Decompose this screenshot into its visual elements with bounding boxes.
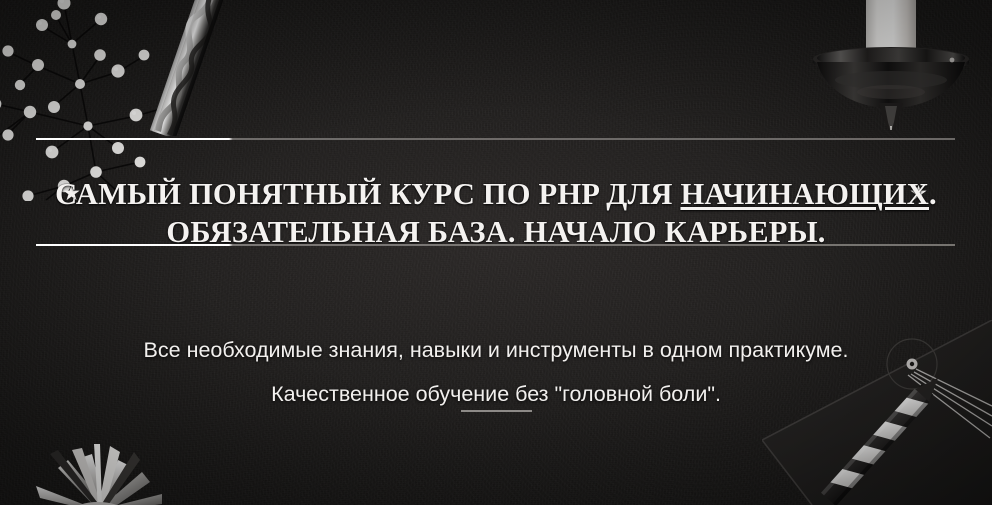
hero-banner: ★ ★ САМЫЙ ПОНЯТНЫЙ КУРС ПО PHP ДЛЯ НАЧИН… [0,0,992,505]
divider-bottom [36,244,955,246]
headline-line-1-prefix: САМЫЙ ПОНЯТНЫЙ КУРС ПО PHP ДЛЯ [55,177,680,211]
hero-content: ★ ★ САМЫЙ ПОНЯТНЫЙ КУРС ПО PHP ДЛЯ НАЧИН… [0,0,992,505]
divider-top [36,138,955,140]
divider-short [461,410,532,412]
hero-subtitle: Все необходимые знания, навыки и инструм… [0,328,992,416]
headline-highlight-word: НАЧИНАЮЩИХ [680,177,929,211]
subtitle-line-1: Все необходимые знания, навыки и инструм… [144,338,849,362]
headline-line-1-suffix: . [929,177,937,211]
hero-headline: САМЫЙ ПОНЯТНЫЙ КУРС ПО PHP ДЛЯ НАЧИНАЮЩИ… [0,175,992,251]
headline-line-1: САМЫЙ ПОНЯТНЫЙ КУРС ПО PHP ДЛЯ НАЧИНАЮЩИ… [55,177,937,211]
subtitle-line-2: Качественное обучение без "головной боли… [271,382,721,406]
